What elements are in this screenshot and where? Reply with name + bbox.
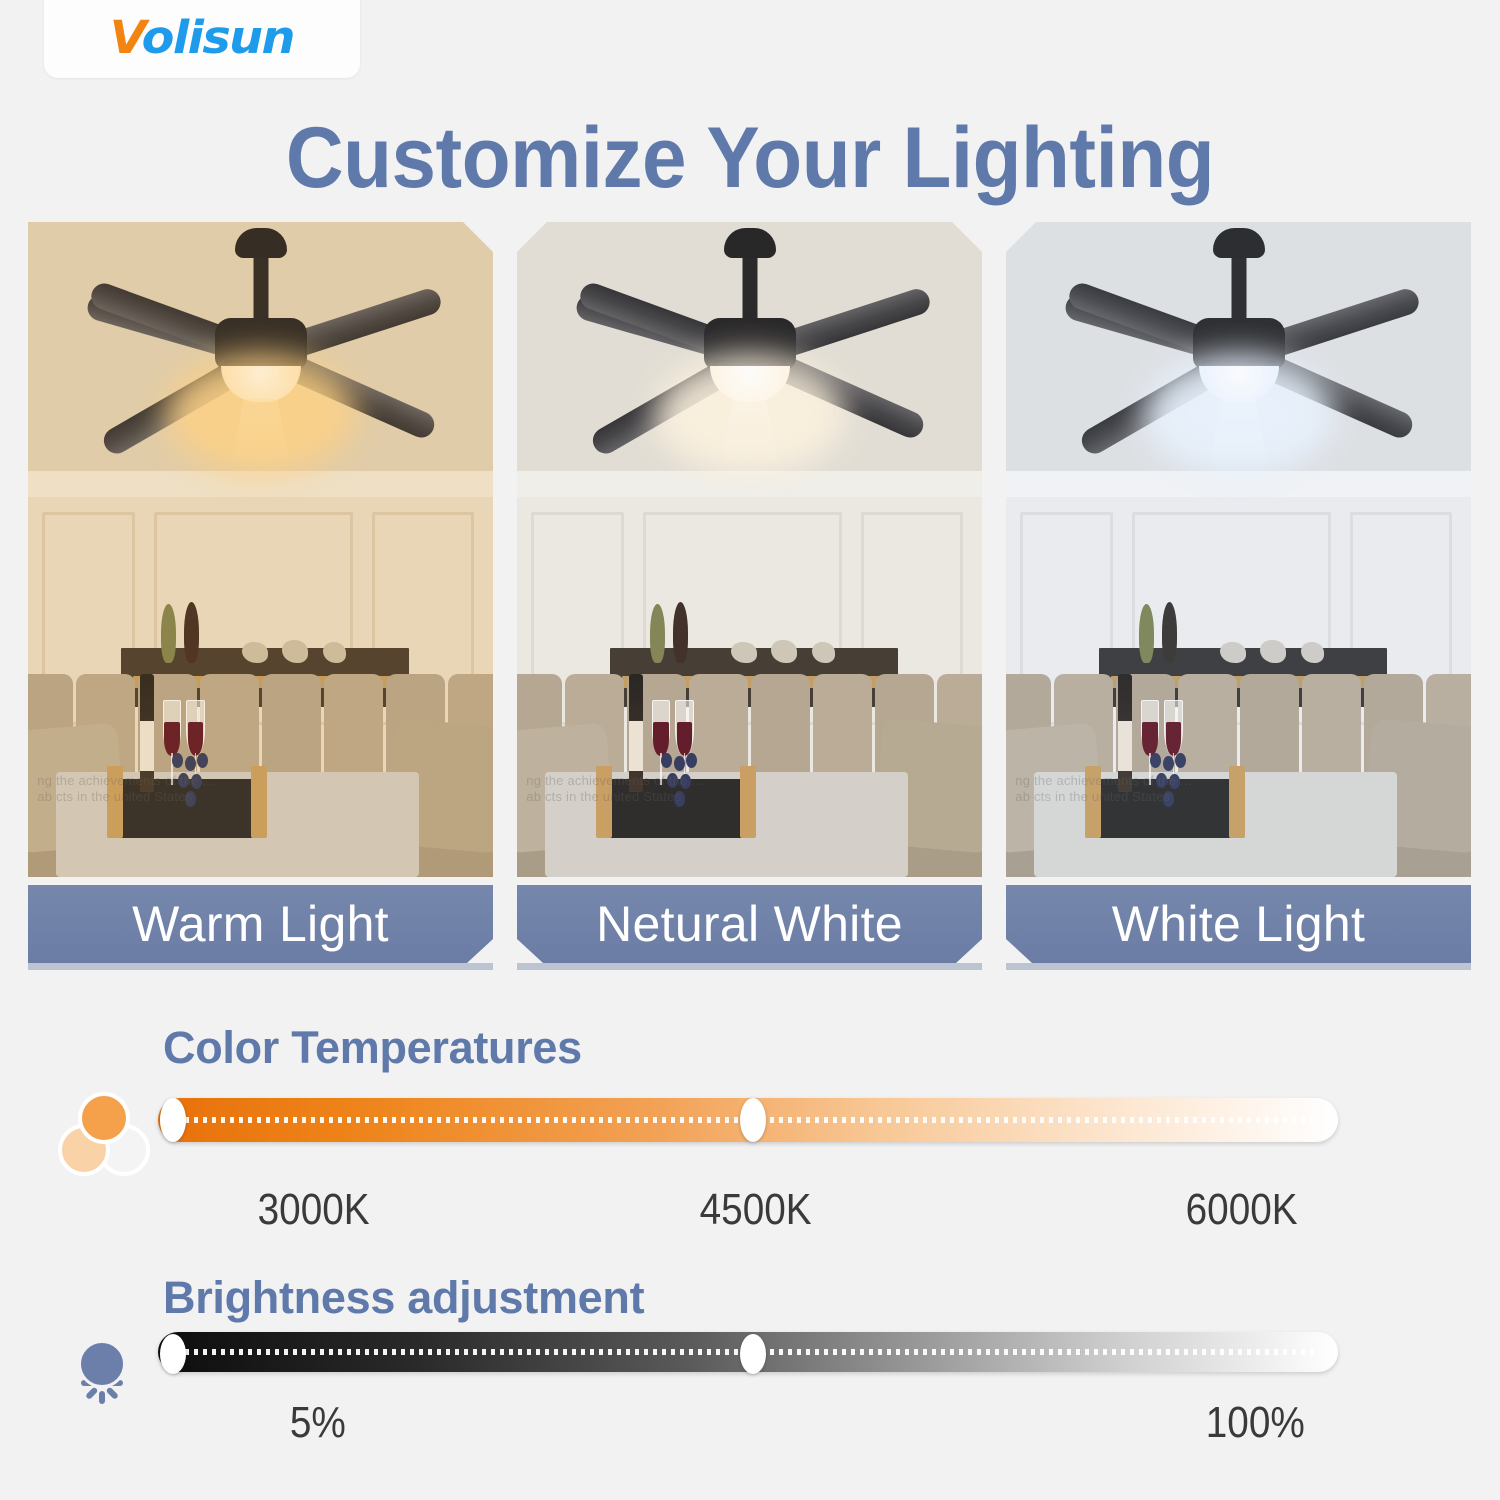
stone-decor: [242, 642, 268, 663]
ceiling-fan-icon: [51, 224, 471, 454]
stone-decor: [1260, 640, 1286, 663]
stone-decor: [282, 640, 308, 663]
ceiling-fan-icon: [1029, 224, 1449, 454]
stone-decor: [323, 642, 346, 663]
color-circles-icon: [50, 1092, 160, 1188]
lighting-mode-card-neutral[interactable]: ng the achievements of the ... ab cts in…: [517, 222, 982, 977]
room-photo-white: ng the achievements of the ... ab cts in…: [1006, 222, 1471, 877]
brightness-scale-label: 5%: [290, 1398, 346, 1448]
room-photo-warm: ng the achievements of the ... ab cts in…: [28, 222, 493, 877]
stone-decor: [731, 642, 757, 663]
lighting-mode-label-white: White Light: [1006, 885, 1471, 963]
watermark-text: ng the achievements of the ... ab cts in…: [37, 773, 214, 805]
watermark-text: ng the achievements of the ... ab cts in…: [526, 773, 703, 805]
crown-molding: [28, 471, 493, 500]
room-photo-neutral: ng the achievements of the ... ab cts in…: [517, 222, 982, 877]
brand-logo-initial: V: [110, 11, 142, 64]
color-temperature-heading: Color Temperatures: [163, 1022, 582, 1074]
owl-figurine: [650, 604, 665, 663]
owl-figurine: [184, 602, 199, 663]
lighting-mode-card-white[interactable]: ng the achievements of the ... ab cts in…: [1006, 222, 1471, 977]
owl-figurine: [161, 604, 176, 663]
color-temperature-knob-current[interactable]: [740, 1098, 766, 1142]
brand-logo: Volisun: [44, 0, 360, 78]
brightness-knob-current[interactable]: [740, 1334, 766, 1374]
crown-molding: [1006, 471, 1471, 500]
color-temperature-knob-min[interactable]: [160, 1098, 186, 1142]
color-temperature-scale-label: 4500K: [700, 1185, 812, 1235]
lighting-mode-label-neutral: Netural White: [517, 885, 982, 963]
page-title: Customize Your Lighting: [53, 112, 1448, 204]
color-temperature-scale-label: 3000K: [258, 1185, 370, 1235]
stone-decor: [1220, 642, 1246, 663]
sun-icon: [52, 1318, 152, 1410]
lighting-mode-gallery: ng the achievements of the ... ab cts in…: [28, 222, 1472, 977]
stone-decor: [812, 642, 835, 663]
owl-figurine: [1162, 602, 1177, 663]
stone-decor: [1301, 642, 1324, 663]
brightness-knob-min[interactable]: [160, 1334, 186, 1374]
crown-molding: [517, 471, 982, 500]
brightness-heading: Brightness adjustment: [163, 1272, 644, 1324]
owl-figurine: [673, 602, 688, 663]
brightness-scale-label: 100%: [1206, 1398, 1305, 1448]
lighting-mode-card-warm[interactable]: ng the achievements of the ... ab cts in…: [28, 222, 493, 977]
lighting-mode-label-warm: Warm Light: [28, 885, 493, 963]
watermark-text: ng the achievements of the ... ab cts in…: [1015, 773, 1192, 805]
ceiling-fan-icon: [540, 224, 960, 454]
brand-logo-text: Volisun: [110, 11, 294, 64]
brand-logo-rest: olisun: [142, 11, 294, 64]
owl-figurine: [1139, 604, 1154, 663]
stone-decor: [771, 640, 797, 663]
color-temperature-scale-label: 6000K: [1186, 1185, 1298, 1235]
